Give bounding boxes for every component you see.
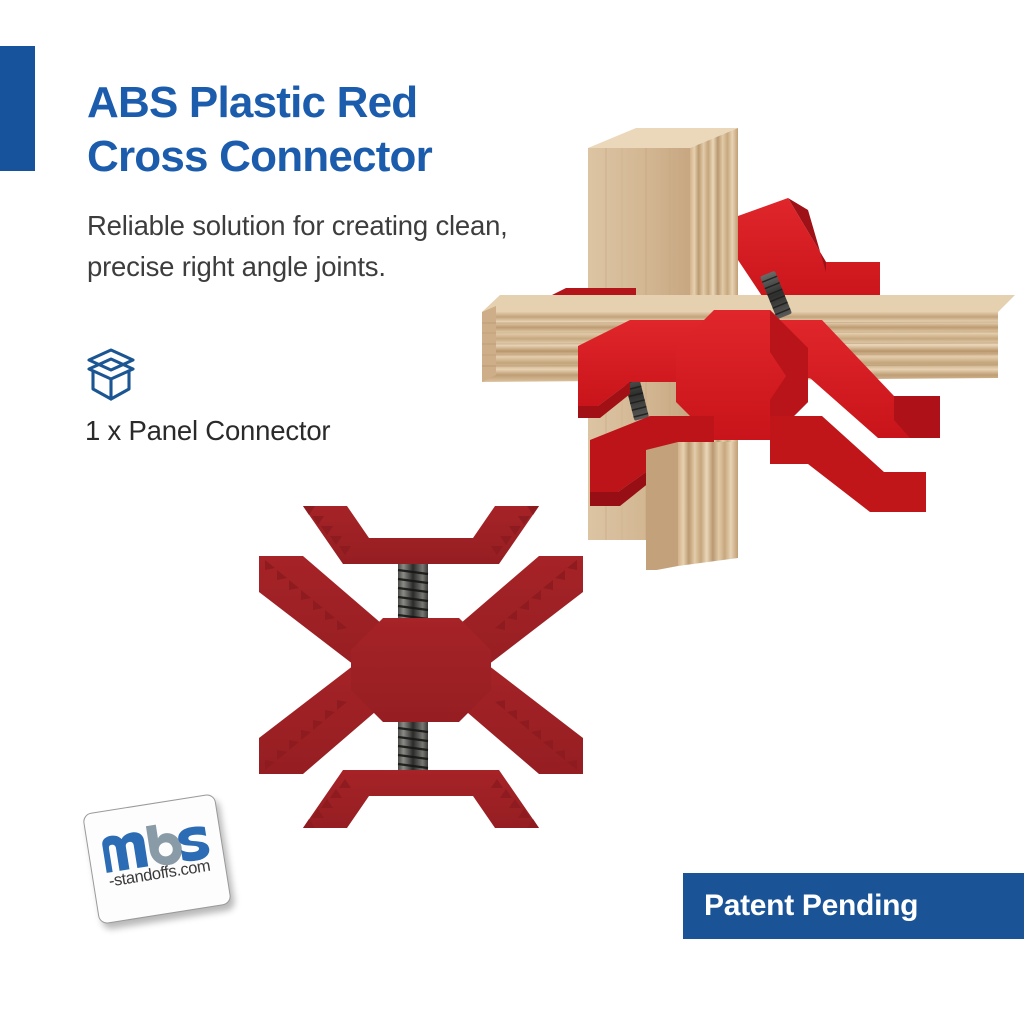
logo-content: -standoffs.com — [82, 793, 230, 922]
accent-bar — [0, 46, 35, 171]
threaded-rod-upper — [398, 564, 428, 620]
product-infographic: ABS Plastic Red Cross Connector Reliable… — [0, 0, 1024, 1024]
patent-pending-label: Patent Pending — [704, 889, 918, 923]
package-contents-label: 1 x Panel Connector — [85, 415, 330, 447]
patent-pending-banner: Patent Pending — [683, 873, 1024, 939]
brand-logo[interactable]: -standoffs.com — [82, 797, 234, 932]
threaded-rod-lower — [398, 722, 428, 778]
connector-arm-top — [303, 506, 539, 564]
vertical-plywood-panel-lower — [646, 442, 738, 570]
product-front-view — [243, 482, 599, 848]
connector-arm-bottom — [303, 770, 539, 828]
connector-body — [351, 618, 491, 722]
open-box-icon — [80, 347, 142, 403]
